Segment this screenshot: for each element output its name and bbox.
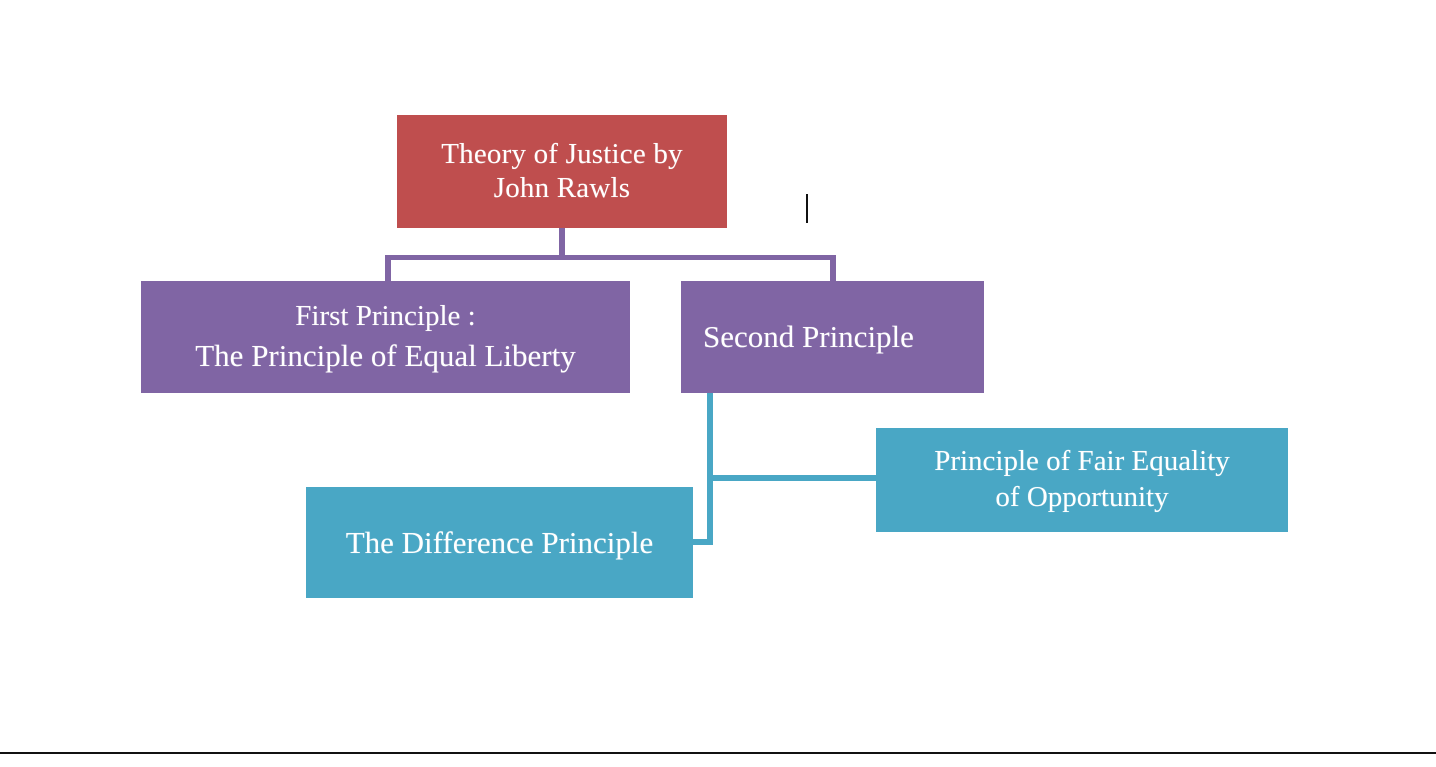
node-theory-of-justice-line-2: John Rawls	[494, 172, 631, 206]
text-cursor-caret	[806, 194, 808, 223]
connector-branch-to-fair-equality	[707, 475, 879, 481]
node-fair-equality-line-1: Principle of Fair Equality	[934, 445, 1230, 479]
node-first-principle[interactable]: First Principle : The Principle of Equal…	[141, 281, 630, 393]
node-first-principle-line-1: First Principle :	[295, 300, 475, 334]
connector-branch-to-difference-principle	[690, 539, 713, 545]
node-theory-of-justice-line-1: Theory of Justice by	[441, 138, 683, 172]
connector-second-principle-spine	[707, 393, 713, 545]
node-second-principle[interactable]: Second Principle	[681, 281, 984, 393]
node-fair-equality-of-opportunity[interactable]: Principle of Fair Equality of Opportunit…	[876, 428, 1288, 532]
node-second-principle-label: Second Principle	[703, 319, 914, 355]
node-difference-principle[interactable]: The Difference Principle	[306, 487, 693, 598]
node-first-principle-line-2: The Principle of Equal Liberty	[195, 338, 576, 374]
bottom-divider-rule	[0, 752, 1436, 754]
connector-drop-to-first-principle	[385, 255, 391, 282]
node-theory-of-justice[interactable]: Theory of Justice by John Rawls	[397, 115, 727, 228]
connector-drop-to-second-principle	[830, 255, 836, 282]
node-difference-principle-label: The Difference Principle	[346, 525, 654, 561]
node-fair-equality-line-2: of Opportunity	[995, 481, 1168, 515]
diagram-canvas: Theory of Justice by John Rawls First Pr…	[0, 0, 1436, 767]
connector-horizontal-bus	[385, 255, 836, 260]
